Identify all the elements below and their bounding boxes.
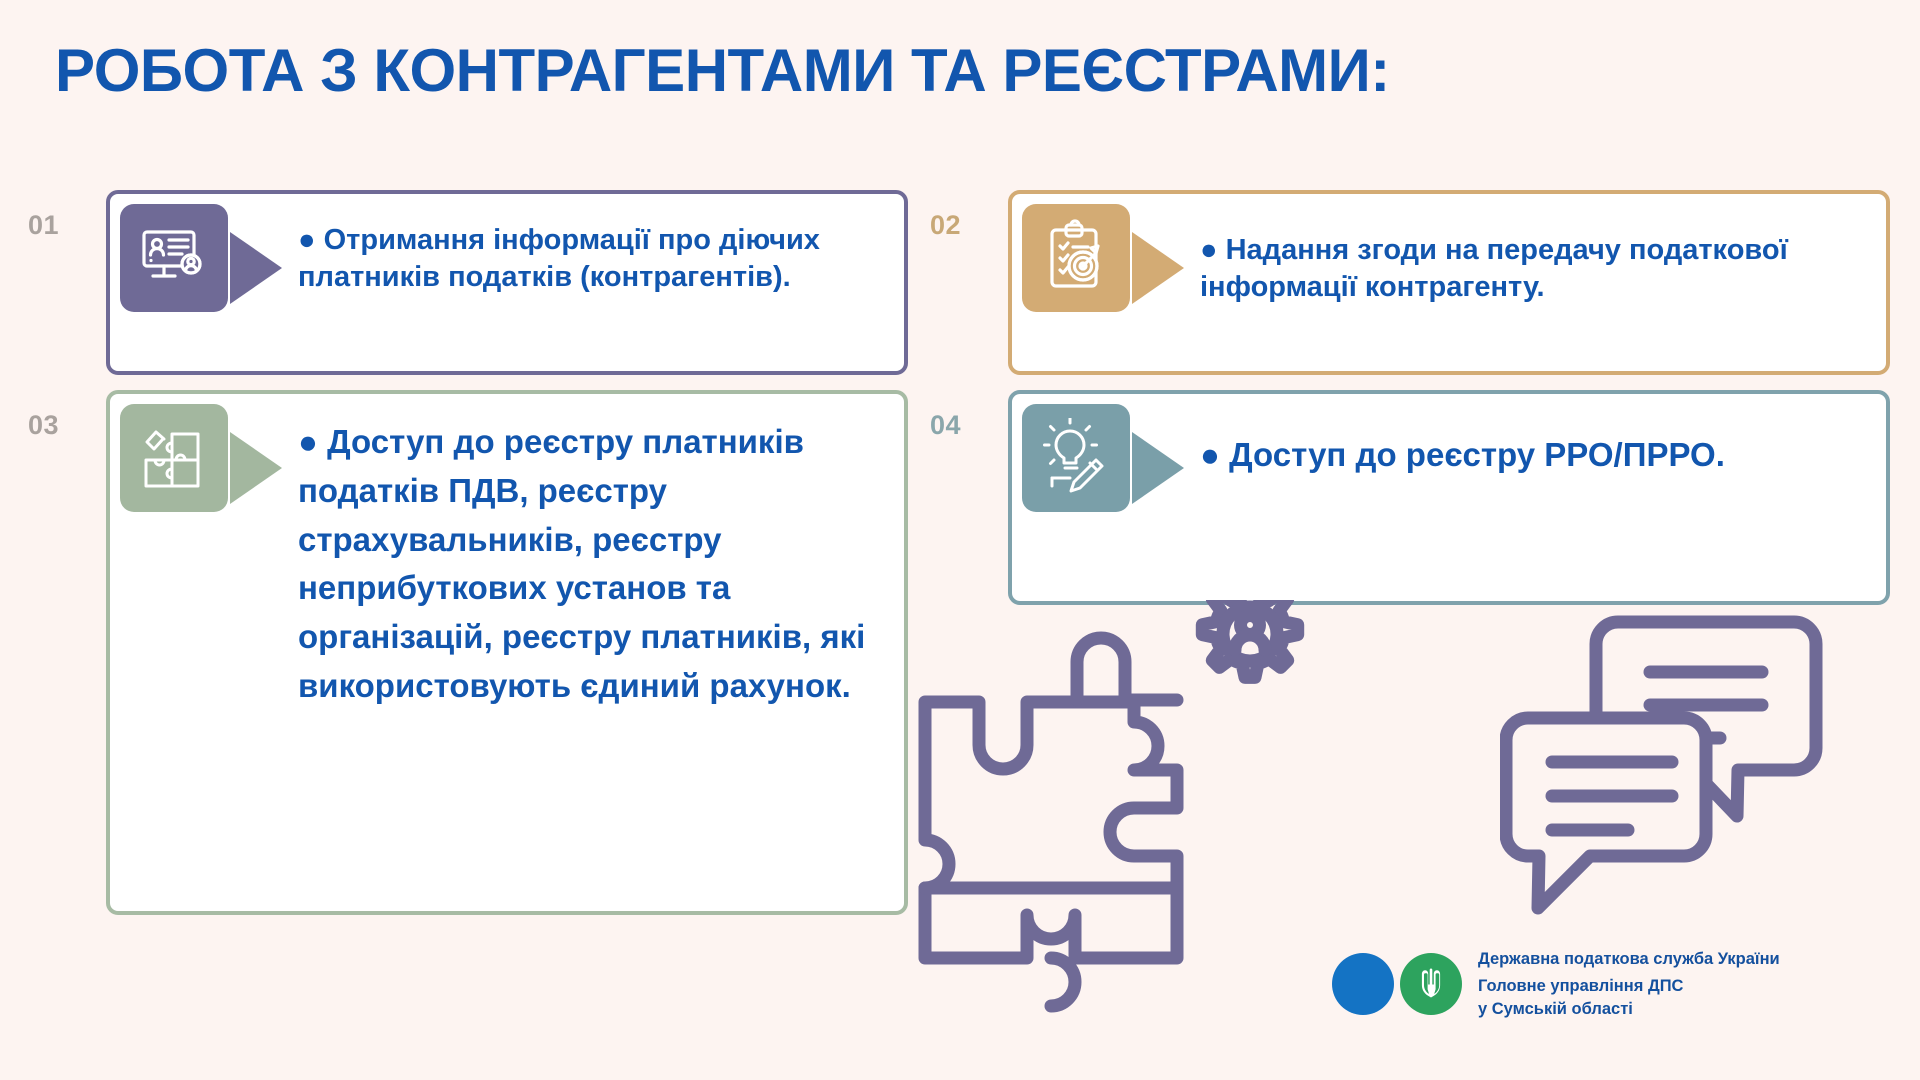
logo-line-1: Державна податкова служба України	[1478, 948, 1780, 970]
clipboard-target-icon	[1022, 204, 1130, 312]
logo-line-3: у Сумській області	[1478, 998, 1780, 1020]
logo-line-2: Головне управління ДПС	[1478, 975, 1780, 997]
footer-logo: Державна податкова служба України Головн…	[1332, 948, 1780, 1020]
arrow-icon-01	[230, 232, 282, 304]
card-body-02[interactable]: ● Надання згоди на передачу податкової і…	[1008, 190, 1890, 375]
monitor-profile-icon	[120, 204, 228, 312]
card-04: 04 ● Доступ до реєстру РРО/ПРРО.	[930, 390, 1890, 605]
card-text-01: ● Отримання інформації про діючих платни…	[282, 194, 904, 296]
bullet-01: ●	[298, 224, 316, 256]
card-text-04: ● Доступ до реєстру РРО/ПРРО.	[1184, 394, 1886, 479]
card-body-03[interactable]: ● Доступ до реєстру платників податків П…	[106, 390, 908, 915]
arrow-icon-02	[1132, 232, 1184, 304]
card-02: 02 ● Надання зго	[930, 190, 1890, 375]
page-title: РОБОТА З КОНТРАГЕНТАМИ ТА РЕЄСТРАМИ:	[55, 36, 1390, 105]
card-number-03: 03	[28, 410, 59, 441]
puzzle-gear-illustration	[915, 600, 1385, 1035]
card-body-04[interactable]: ● Доступ до реєстру РРО/ПРРО.	[1008, 390, 1890, 605]
arrow-icon-04	[1132, 432, 1184, 504]
card-label-01: Отримання інформації про діючих платникі…	[298, 224, 820, 293]
bullet-04: ●	[1200, 436, 1220, 473]
chat-bubbles-illustration	[1500, 610, 1830, 945]
card-label-02: Надання згоди на передачу податкової інф…	[1200, 234, 1788, 303]
blue-circle-emblem	[1332, 953, 1394, 1015]
logo-text: Державна податкова служба України Головн…	[1478, 948, 1780, 1020]
card-number-04: 04	[930, 410, 961, 441]
card-label-03: Доступ до реєстру платників податків ПДВ…	[298, 423, 865, 704]
arrow-icon-03	[230, 432, 282, 504]
card-number-01: 01	[28, 210, 59, 241]
card-body-01[interactable]: ● Отримання інформації про діючих платни…	[106, 190, 908, 375]
bullet-02: ●	[1200, 234, 1218, 266]
card-text-03: ● Доступ до реєстру платників податків П…	[282, 394, 904, 711]
puzzle-pieces-icon	[120, 404, 228, 512]
card-label-04: Доступ до реєстру РРО/ПРРО.	[1229, 436, 1725, 473]
lightbulb-pencil-icon	[1022, 404, 1130, 512]
card-number-02: 02	[930, 210, 961, 241]
ukraine-trident-emblem	[1400, 953, 1462, 1015]
bullet-03: ●	[298, 423, 318, 460]
card-01: 01 ● Отримання інформації про діюч	[28, 190, 908, 375]
card-text-02: ● Надання згоди на передачу податкової і…	[1184, 194, 1886, 306]
card-03: 03 ● Доступ до реєстру платників податкі…	[28, 390, 908, 915]
